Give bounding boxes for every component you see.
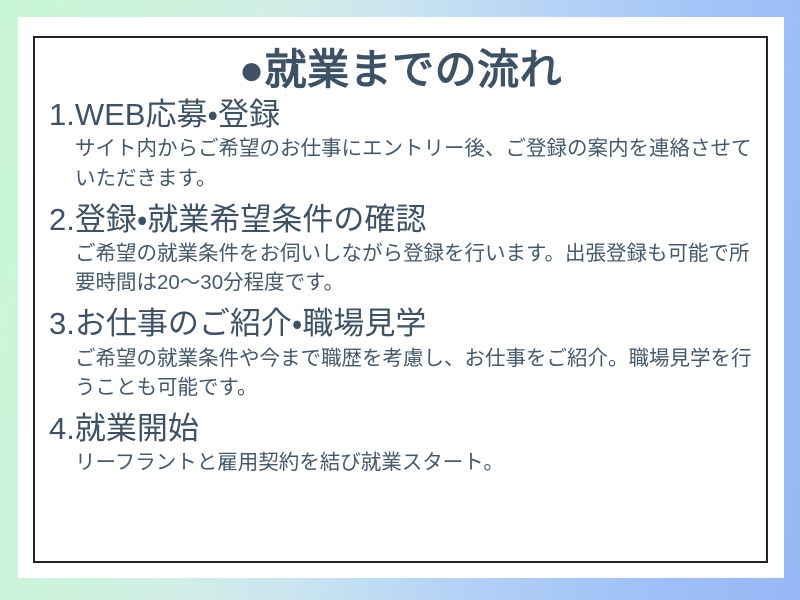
step-body-1: サイト内からご希望のお仕事にエントリー後、ご登録の案内を連絡させていただきます。 <box>49 134 756 192</box>
step-body-2: ご希望の就業条件をお伺いしながら登録を行います。出張登録も可能で所要時間は20〜… <box>49 239 756 297</box>
list-item: 4.就業開始 リーフラントと雇用契約を結び就業スタート。 <box>49 409 756 484</box>
step-heading-1: 1.WEB応募・登録 <box>49 95 756 134</box>
page-title: ●就業までの流れ <box>35 38 766 95</box>
step-heading-4: 4.就業開始 <box>49 409 756 448</box>
step-body-4: リーフラントと雇用契約を結び就業スタート。 <box>49 448 756 477</box>
list-item: 3.お仕事のご紹介・職場見学 ご希望の就業条件や今まで職歴を考慮し、お仕事をご紹… <box>49 304 756 409</box>
step-heading-2: 2.登録・就業希望条件の確認 <box>49 200 756 239</box>
step-body-3: ご希望の就業条件や今まで職歴を考慮し、お仕事をご紹介。職場見学を行うことも可能で… <box>49 344 756 402</box>
list-item: 1.WEB応募・登録 サイト内からご希望のお仕事にエントリー後、ご登録の案内を連… <box>49 95 756 200</box>
poster-card: ●就業までの流れ 1.WEB応募・登録 サイト内からご希望のお仕事にエントリー後… <box>18 17 784 578</box>
content-frame: ●就業までの流れ 1.WEB応募・登録 サイト内からご希望のお仕事にエントリー後… <box>33 36 768 563</box>
list-item: 2.登録・就業希望条件の確認 ご希望の就業条件をお伺いしながら登録を行います。出… <box>49 200 756 305</box>
step-heading-3: 3.お仕事のご紹介・職場見学 <box>49 304 756 343</box>
steps-list: 1.WEB応募・登録 サイト内からご希望のお仕事にエントリー後、ご登録の案内を連… <box>35 95 766 484</box>
